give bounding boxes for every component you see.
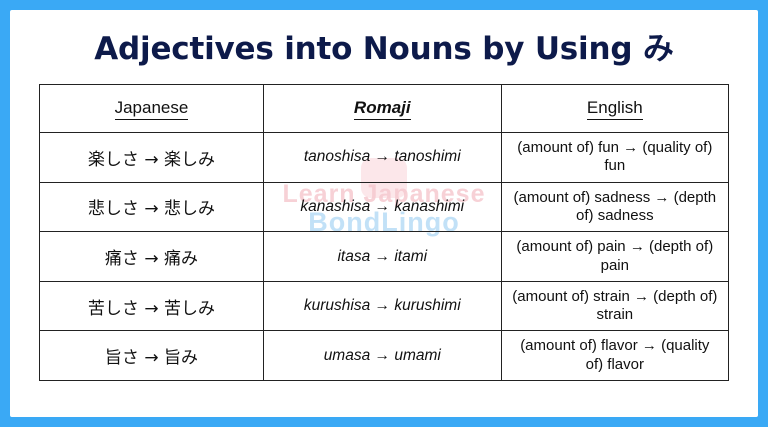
vocabulary-table: Japanese Romaji English 楽しさ → 楽しみ tanosh… — [39, 84, 729, 381]
table-row: 悲しさ → 悲しみ kanashisa → kanashimi (amount … — [40, 182, 729, 232]
cell-english: (amount of) strain → (depth of) strain — [501, 281, 728, 331]
cell-japanese: 旨さ → 旨み — [40, 331, 264, 381]
cell-english: (amount of) flavor → (quality of) flavor — [501, 331, 728, 381]
table-row: 苦しさ → 苦しみ kurushisa → kurushimi (amount … — [40, 281, 729, 331]
table-header-row: Japanese Romaji English — [40, 85, 729, 133]
table-row: 痛さ → 痛み itasa → itami (amount of) pain →… — [40, 232, 729, 282]
page-title: Adjectives into Nouns by Using み — [10, 32, 758, 66]
table-header: Japanese Romaji English — [40, 85, 729, 133]
cell-japanese: 楽しさ → 楽しみ — [40, 133, 264, 183]
table-row: 楽しさ → 楽しみ tanoshisa → tanoshimi (amount … — [40, 133, 729, 183]
cell-japanese: 悲しさ → 悲しみ — [40, 182, 264, 232]
cell-japanese: 苦しさ → 苦しみ — [40, 281, 264, 331]
column-header-romaji: Romaji — [263, 85, 501, 133]
cell-japanese: 痛さ → 痛み — [40, 232, 264, 282]
cell-romaji: itasa → itami — [263, 232, 501, 282]
cell-english: (amount of) sadness → (depth of) sadness — [501, 182, 728, 232]
content-card: Adjectives into Nouns by Using み Learn J… — [10, 10, 758, 417]
page-background: Adjectives into Nouns by Using み Learn J… — [0, 0, 768, 427]
table-row: 旨さ → 旨み umasa → umami (amount of) flavor… — [40, 331, 729, 381]
column-header-romaji-label: Romaji — [354, 98, 411, 120]
column-header-english: English — [501, 85, 728, 133]
table-body: 楽しさ → 楽しみ tanoshisa → tanoshimi (amount … — [40, 133, 729, 381]
cell-romaji: umasa → umami — [263, 331, 501, 381]
column-header-japanese: Japanese — [40, 85, 264, 133]
column-header-japanese-label: Japanese — [115, 98, 189, 120]
cell-romaji: kanashisa → kanashimi — [263, 182, 501, 232]
cell-romaji: kurushisa → kurushimi — [263, 281, 501, 331]
column-header-english-label: English — [587, 98, 643, 120]
vocabulary-table-wrapper: Japanese Romaji English 楽しさ → 楽しみ tanosh… — [39, 84, 729, 381]
cell-english: (amount of) fun → (quality of) fun — [501, 133, 728, 183]
cell-romaji: tanoshisa → tanoshimi — [263, 133, 501, 183]
cell-english: (amount of) pain → (depth of) pain — [501, 232, 728, 282]
